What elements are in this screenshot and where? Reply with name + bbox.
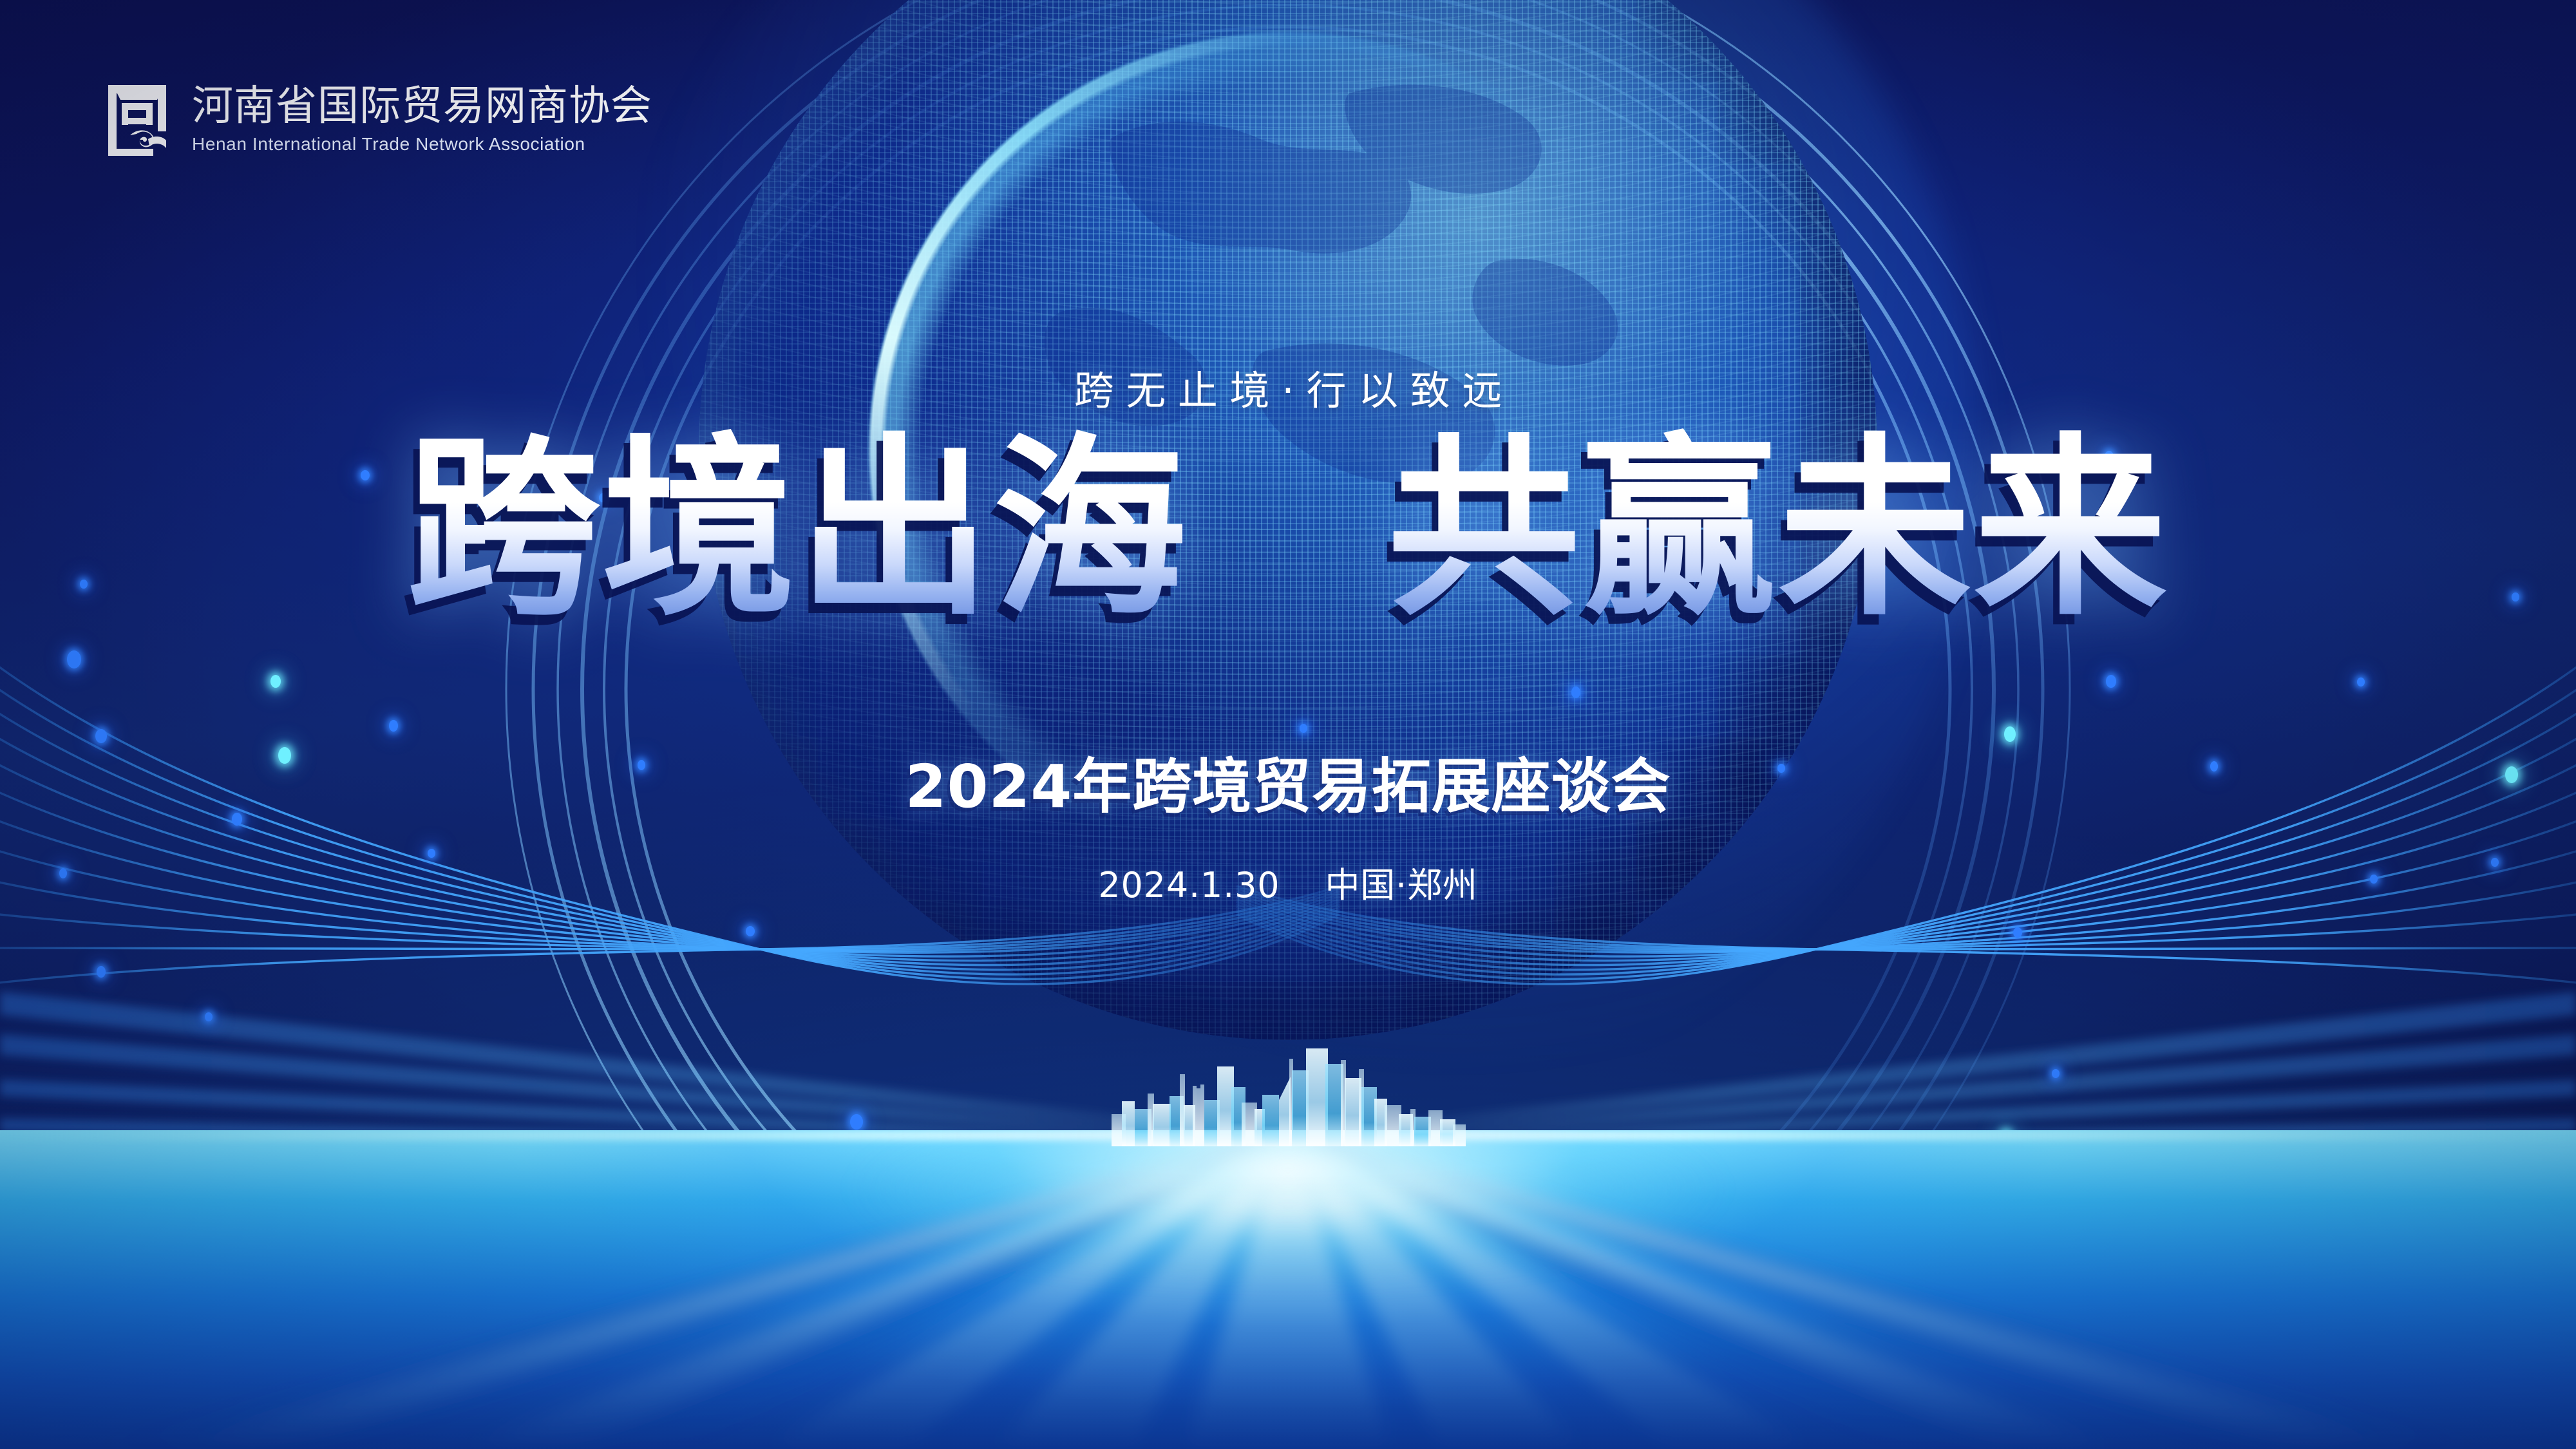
event-dateline: 2024.1.30 中国·郑州 [0,868,2576,903]
headline-part-2: 共赢未来 [1387,417,2169,641]
page-title: 跨境出海 共赢未来 [0,433,2576,626]
event-date: 2024.1.30 [1098,865,1280,905]
city-skyline-icon [1108,1024,1468,1146]
seal-emblem-icon [102,82,173,158]
event-tagline: 跨无止境·行以致远 [0,358,2576,416]
event-location: 中国·郑州 [1325,865,1477,905]
event-subtitle: 2024年跨境贸易拓展座谈会 [0,757,2576,817]
headline-part-1: 跨境出海 [407,417,1189,641]
association-logo[interactable]: 河南省国际贸易网商协会 Henan International Trade Ne… [102,82,652,158]
logo-name-cn: 河南省国际贸易网商协会 [192,86,652,128]
poster-canvas: 河南省国际贸易网商协会 Henan International Trade Ne… [0,0,2576,1449]
logo-name-en: Henan International Trade Network Associ… [192,133,652,155]
radial-light-burst-icon [0,1130,2576,1449]
